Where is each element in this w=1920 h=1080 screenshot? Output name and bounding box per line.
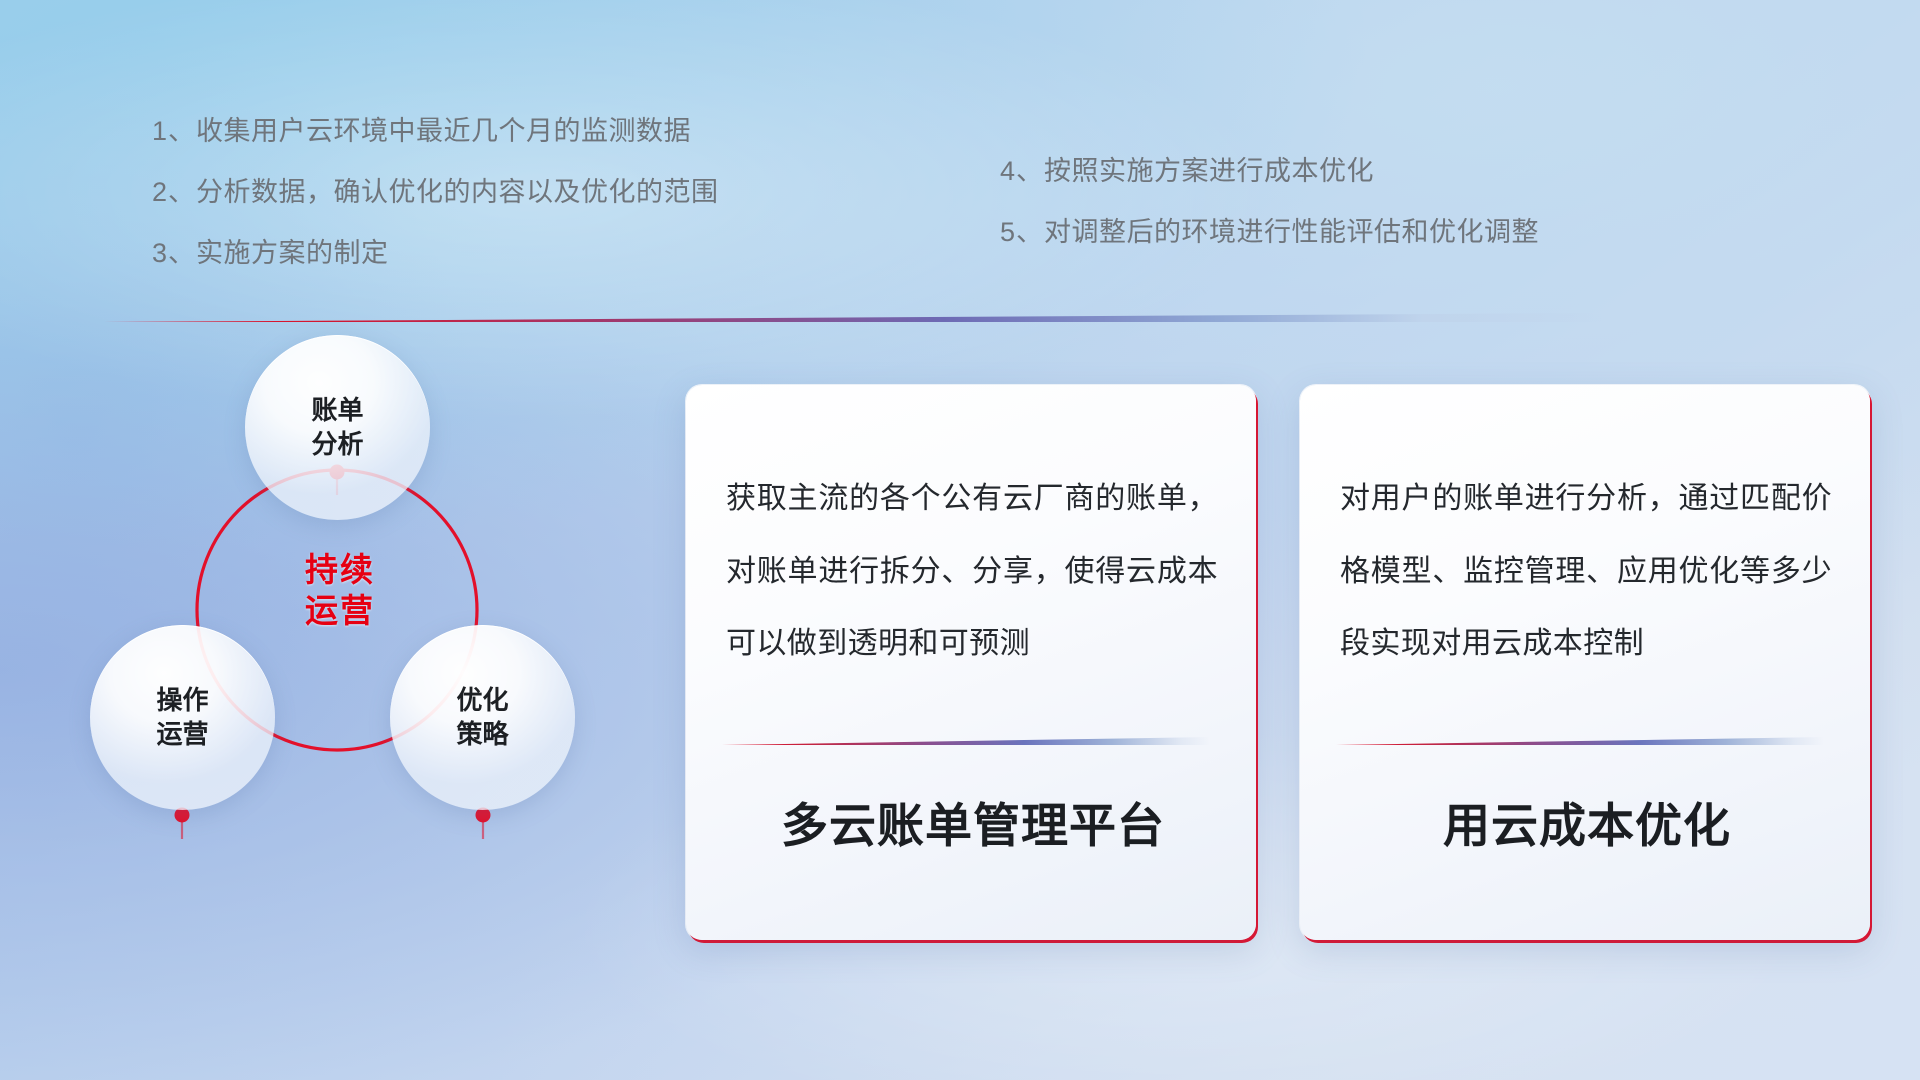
section-divider-line	[103, 313, 1603, 322]
list-item: 4、按照实施方案进行成本优化	[1000, 158, 1539, 185]
list-item-text: 对调整后的环境进行性能评估和优化调整	[1044, 217, 1539, 247]
process-list-right: 4、按照实施方案进行成本优化 5、对调整后的环境进行性能评估和优化调整	[1000, 158, 1539, 280]
list-item-number: 2、	[152, 177, 196, 207]
center-label-line2: 运营	[305, 590, 375, 631]
list-item: 1、收集用户云环境中最近几个月的监测数据	[152, 118, 719, 145]
bubble-label-line1: 优化	[456, 684, 508, 717]
bubble-operations[interactable]: 操作 运营	[90, 625, 275, 810]
list-item: 3、实施方案的制定	[152, 240, 719, 267]
bubble-bill-analysis[interactable]: 账单 分析	[245, 335, 430, 520]
continuous-operations-diagram: 账单 分析 操作 运营 优化 策略 持续 运营	[100, 345, 660, 945]
diagram-center-label: 持续 运营	[260, 535, 420, 645]
bubble-label-line1: 操作	[156, 684, 208, 717]
bubble-label-line1: 账单	[311, 394, 363, 427]
bubble-optimization-strategy[interactable]: 优化 策略	[390, 625, 575, 810]
list-item-text: 收集用户云环境中最近几个月的监测数据	[196, 116, 691, 146]
card-body-text: 获取主流的各个公有云厂商的账单，对账单进行拆分、分享，使得云成本可以做到透明和可…	[726, 463, 1218, 681]
list-item: 2、分析数据，确认优化的内容以及优化的范围	[152, 179, 719, 206]
center-label-line1: 持续	[305, 549, 375, 590]
list-item-text: 实施方案的制定	[196, 238, 389, 268]
card-accent-rule	[722, 737, 1210, 745]
slide-canvas: 1、收集用户云环境中最近几个月的监测数据 2、分析数据，确认优化的内容以及优化的…	[0, 0, 1920, 1080]
card-cloud-cost-optimization[interactable]: 对用户的账单进行分析，通过匹配价格模型、监控管理、应用优化等多少段实现对用云成本…	[1300, 385, 1870, 940]
card-body-text: 对用户的账单进行分析，通过匹配价格模型、监控管理、应用优化等多少段实现对用云成本…	[1340, 463, 1832, 681]
list-item: 5、对调整后的环境进行性能评估和优化调整	[1000, 219, 1539, 246]
process-list-left: 1、收集用户云环境中最近几个月的监测数据 2、分析数据，确认优化的内容以及优化的…	[152, 118, 719, 301]
list-item-number: 4、	[1000, 156, 1044, 186]
list-item-text: 分析数据，确认优化的内容以及优化的范围	[196, 177, 719, 207]
card-title: 用云成本优化	[1334, 787, 1840, 856]
card-accent-rule	[1336, 737, 1824, 745]
card-multi-cloud-billing-platform[interactable]: 获取主流的各个公有云厂商的账单，对账单进行拆分、分享，使得云成本可以做到透明和可…	[686, 385, 1256, 940]
bubble-label-line2: 运营	[156, 718, 208, 751]
bubble-label-line2: 分析	[311, 428, 363, 461]
card-title: 多云账单管理平台	[720, 787, 1226, 856]
list-item-number: 1、	[152, 116, 196, 146]
list-item-text: 按照实施方案进行成本优化	[1044, 156, 1374, 186]
bubble-label-line2: 策略	[456, 718, 508, 751]
list-item-number: 3、	[152, 238, 196, 268]
list-item-number: 5、	[1000, 217, 1044, 247]
